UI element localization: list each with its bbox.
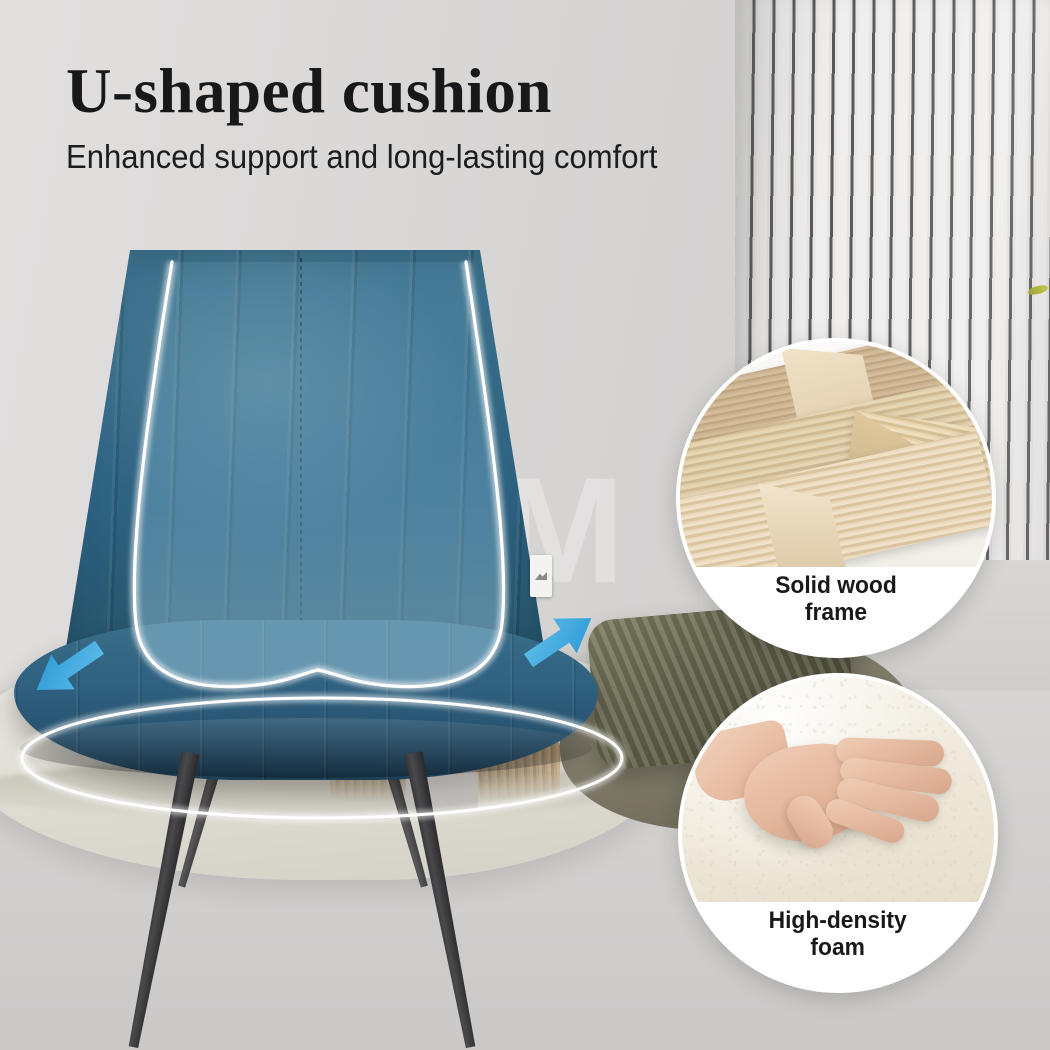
feature-badge-solid-wood-frame[interactable]: Solid wood frame: [676, 338, 996, 658]
chair-leg-front-right: [402, 750, 483, 1049]
badge-label-wood: Solid wood frame: [775, 573, 897, 627]
hand-icon: [698, 701, 948, 851]
badge-label-foam: High-density foam: [769, 908, 907, 962]
chair-leg-front-left: [122, 750, 203, 1049]
dining-chair: [0, 250, 640, 1050]
foam-photo: [682, 677, 994, 902]
brand-tag: [530, 555, 552, 597]
page-subtitle: Enhanced support and long-lasting comfor…: [66, 138, 657, 176]
feature-badge-high-density-foam[interactable]: High-density foam: [678, 673, 998, 993]
foam-badge-caption: High-density foam: [682, 902, 994, 989]
backrest-center-seam: [300, 258, 302, 678]
page-title: U-shaped cushion: [66, 55, 552, 128]
seat-front-lip: [20, 718, 592, 778]
wood-photo: [680, 342, 992, 567]
wood-badge-caption: Solid wood frame: [680, 567, 992, 654]
product-feature-image: M: [0, 0, 1050, 1050]
